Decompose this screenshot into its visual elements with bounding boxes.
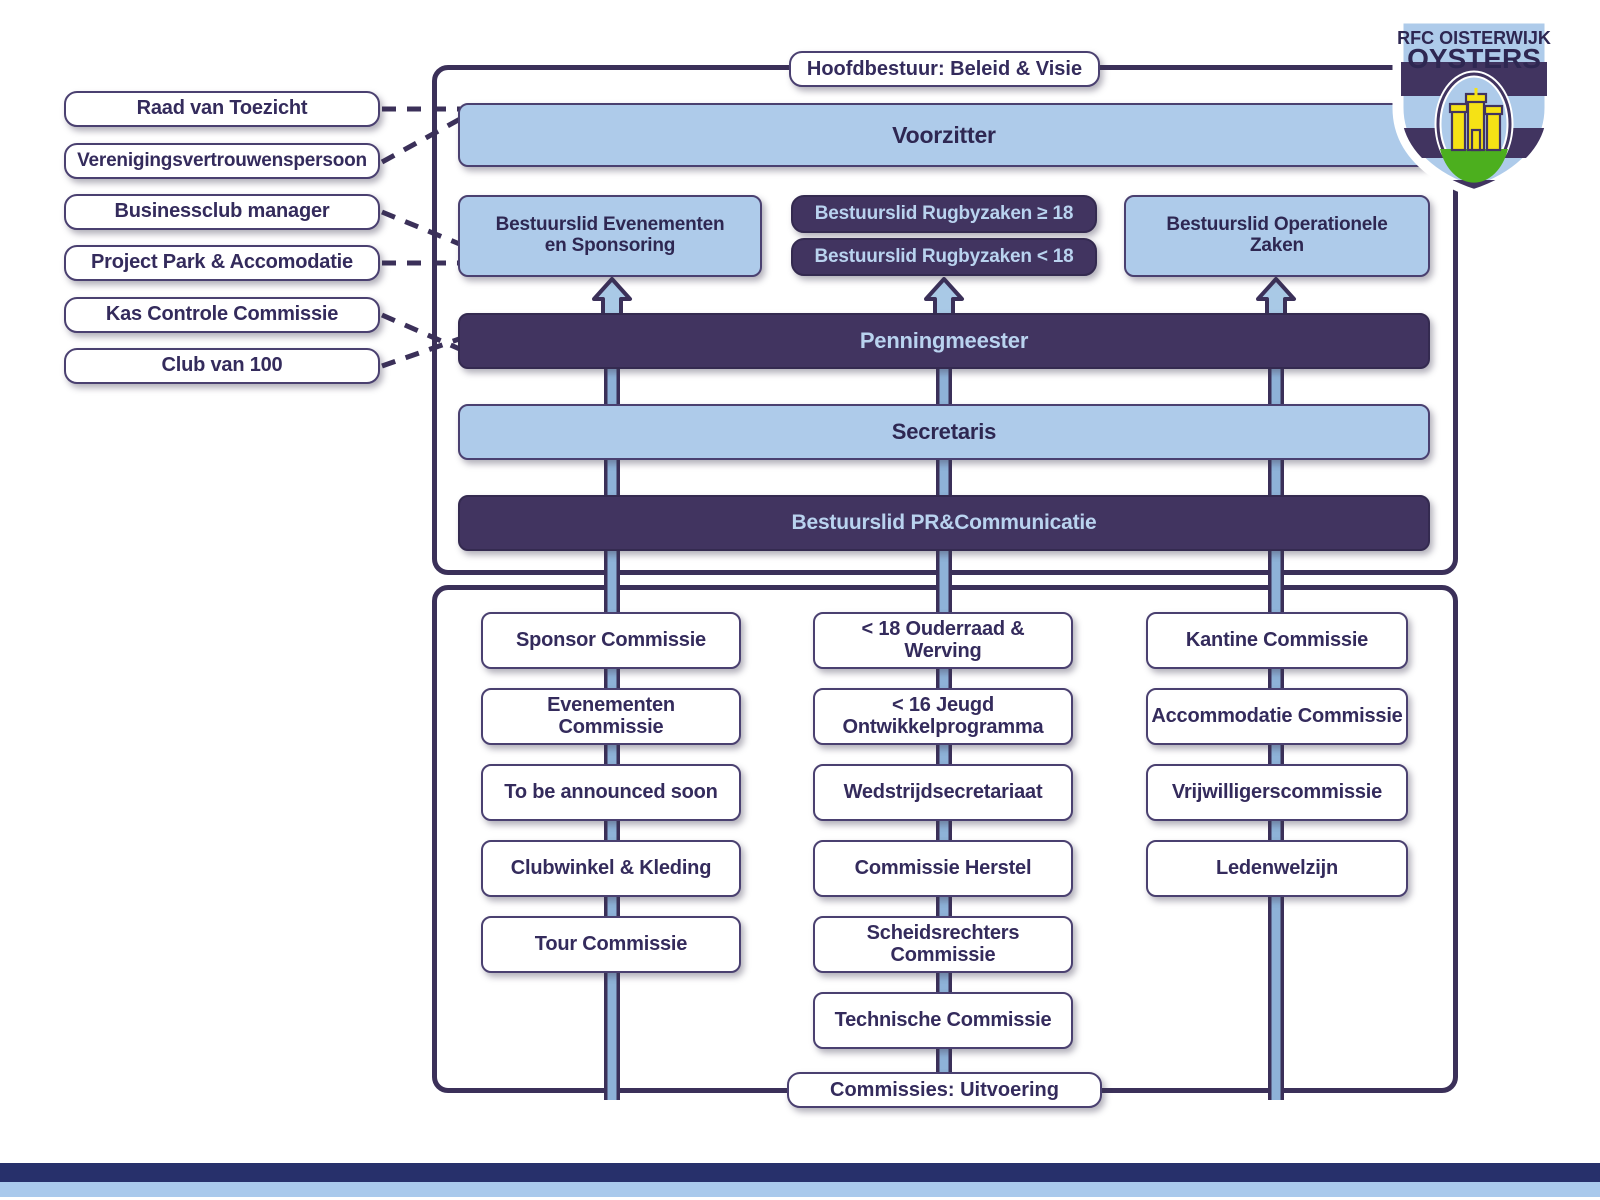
commission-tba[interactable]: To be announced soon (481, 764, 741, 821)
side-label-businessclub-manager[interactable]: Businessclub manager (64, 194, 380, 230)
arrow-up-to-evenementen (590, 277, 634, 317)
side-label-club-van-100[interactable]: Club van 100 (64, 348, 380, 384)
board-secretary-secretaris[interactable]: Secretaris (458, 404, 1430, 460)
board-member-rugbyzaken-18-plus[interactable]: Bestuurslid Rugbyzaken ≥ 18 (791, 195, 1097, 233)
commission-wedstrijdsecretariaat[interactable]: Wedstrijdsecretariaat (813, 764, 1073, 821)
board-chair-voorzitter[interactable]: Voorzitter (458, 103, 1430, 167)
board-treasurer-penningmeester[interactable]: Penningmeester (458, 313, 1430, 369)
footer-light-blue-bar (0, 1182, 1600, 1197)
commission-technische[interactable]: Technische Commissie (813, 992, 1073, 1049)
commission-ledenwelzijn[interactable]: Ledenwelzijn (1146, 840, 1408, 897)
commission-accommodatie[interactable]: Accommodatie Commissie (1146, 688, 1408, 745)
board-member-rugbyzaken-18-min[interactable]: Bestuurslid Rugbyzaken < 18 (791, 238, 1097, 276)
commission-clubwinkel-kleding[interactable]: Clubwinkel & Kleding (481, 840, 741, 897)
commission-vrijwilligers[interactable]: Vrijwilligerscommissie (1146, 764, 1408, 821)
club-logo-shield: RFC OISTERWIJK OYSTERS (1384, 4, 1564, 200)
commission-evenementen[interactable]: Evenementen Commissie (481, 688, 741, 745)
commission-18-ouderraad-werving[interactable]: < 18 Ouderraad & Werving (813, 612, 1073, 669)
commission-herstel[interactable]: Commissie Herstel (813, 840, 1073, 897)
arrow-up-to-rugbyzaken (922, 277, 966, 317)
arrow-up-to-operationele-zaken (1254, 277, 1298, 317)
commissions-group-caption: Commissies: Uitvoering (787, 1072, 1102, 1108)
commission-16-jeugd-ontwikkelprogramma[interactable]: < 16 Jeugd Ontwikkelprogramma (813, 688, 1073, 745)
board-group-caption: Hoofdbestuur: Beleid & Visie (789, 51, 1100, 87)
commission-tour[interactable]: Tour Commissie (481, 916, 741, 973)
footer-navy-bar (0, 1163, 1600, 1182)
board-member-pr-communicatie[interactable]: Bestuurslid PR&Communicatie (458, 495, 1430, 551)
side-label-raad-van-toezicht[interactable]: Raad van Toezicht (64, 91, 380, 127)
side-label-verenigingsvertrouwenspersoon[interactable]: Verenigingsvertrouwenspersoon (64, 143, 380, 179)
commission-kantine[interactable]: Kantine Commissie (1146, 612, 1408, 669)
board-member-operationele-zaken[interactable]: Bestuurslid Operationele Zaken (1124, 195, 1430, 277)
organogram-canvas: Hoofdbestuur: Beleid & Visie Commissies:… (0, 0, 1600, 1200)
side-label-kas-controle-commissie[interactable]: Kas Controle Commissie (64, 297, 380, 333)
logo-line2: OYSTERS (1407, 43, 1541, 74)
board-member-evenementen-sponsoring[interactable]: Bestuurslid Evenementen en Sponsoring (458, 195, 762, 277)
side-label-project-park-accomodatie[interactable]: Project Park & Accomodatie (64, 245, 380, 281)
commission-sponsor[interactable]: Sponsor Commissie (481, 612, 741, 669)
commission-scheidsrechters[interactable]: Scheidsrechters Commissie (813, 916, 1073, 973)
